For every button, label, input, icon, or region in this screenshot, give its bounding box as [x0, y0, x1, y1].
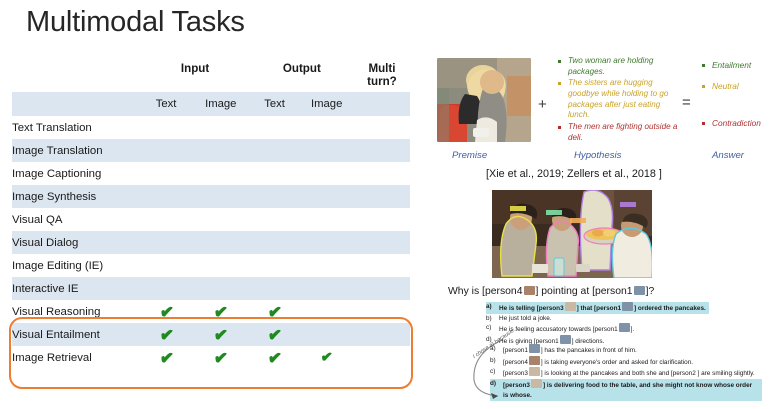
- person1-token-icon: [622, 302, 633, 311]
- cell-input-text: [140, 277, 191, 300]
- cell-multiturn: [354, 277, 410, 300]
- cell-input-text: [140, 254, 191, 277]
- task-name-cell: Visual Dialog: [12, 231, 140, 254]
- cell-input-image: [192, 139, 250, 162]
- cell-output-image: [299, 116, 354, 139]
- vcr-question-suffix: ]?: [646, 286, 655, 297]
- caption-answer: Answer: [712, 150, 744, 161]
- plus-icon: +: [538, 96, 547, 113]
- vcr-rationale-option[interactable]: c)[person3] is looking at the pancakes a…: [490, 367, 762, 379]
- hypothesis-item: The sisters are hugging goodbye while ho…: [556, 78, 678, 121]
- vcr-scene-photo: [492, 190, 652, 278]
- cell-input-text: [140, 185, 191, 208]
- check-icon: ✔: [267, 325, 282, 345]
- cell-input-image: ✔: [192, 346, 250, 369]
- sub-header-multiturn: [354, 92, 410, 116]
- person1-token-icon: [634, 286, 645, 295]
- cell-input-text: ✔: [140, 300, 191, 323]
- vcr-rationale-option[interactable]: d)[person3] is delivering food to the ta…: [490, 379, 762, 400]
- check-icon: ✔: [158, 302, 173, 322]
- check-icon: ✔: [158, 348, 173, 368]
- cell-input-text: [140, 116, 191, 139]
- sub-header-output-text: Text: [250, 92, 300, 116]
- page-title: Multimodal Tasks: [26, 6, 245, 39]
- cell-input-text: [140, 139, 191, 162]
- cell-output-image: [299, 185, 354, 208]
- task-name-cell: Image Retrieval: [12, 346, 140, 369]
- task-name-cell: Image Editing (IE): [12, 254, 140, 277]
- table-row: Visual Reasoning✔✔✔: [12, 300, 410, 323]
- group-header-input: Input: [140, 62, 249, 92]
- answer-list: Entailment Neutral Contradiction: [700, 58, 784, 128]
- cell-output-image: [299, 323, 354, 346]
- person1-token-icon: [529, 344, 540, 353]
- option-text-pre: He just told a joke.: [499, 315, 552, 322]
- cell-output-text: ✔: [250, 323, 300, 346]
- cell-output-image: [299, 139, 354, 162]
- option-key: a): [486, 302, 492, 312]
- cell-input-text: ✔: [140, 323, 191, 346]
- cell-output-text: [250, 185, 300, 208]
- option-key: c): [486, 323, 491, 333]
- answer-item: Neutral: [700, 81, 784, 91]
- cell-multiturn: [354, 162, 410, 185]
- cell-input-image: [192, 185, 250, 208]
- person1-token-icon: [560, 335, 571, 344]
- person3-token-icon: [529, 367, 540, 376]
- cell-input-text: [140, 208, 191, 231]
- multimodal-tasks-table: Input Output Multi turn? Text Image Text…: [12, 62, 410, 369]
- visual-entailment-figure: + Two woman are holding packages. The si…: [434, 58, 784, 166]
- table-row: Visual Entailment✔✔✔: [12, 323, 410, 346]
- hypothesis-item: The men are fighting outside a deli.: [556, 122, 678, 143]
- task-name-cell: Visual Reasoning: [12, 300, 140, 323]
- check-icon: ✔: [320, 349, 333, 366]
- equals-icon: =: [682, 94, 691, 111]
- cell-output-image: [299, 254, 354, 277]
- check-icon: ✔: [213, 348, 228, 368]
- option-text-post: ] is looking at the pancakes and both sh…: [541, 370, 755, 377]
- check-icon: ✔: [158, 325, 173, 345]
- table-row: Image Retrieval✔✔✔✔: [12, 346, 410, 369]
- cell-input-image: ✔: [192, 300, 250, 323]
- cell-input-image: [192, 231, 250, 254]
- cell-multiturn: [354, 185, 410, 208]
- sub-header-output-image: Image: [299, 92, 354, 116]
- cell-multiturn: [354, 300, 410, 323]
- cell-multiturn: [354, 116, 410, 139]
- cell-multiturn: [354, 346, 410, 369]
- cell-multiturn: [354, 231, 410, 254]
- person1-token-icon: [619, 323, 630, 332]
- vcr-answer-option[interactable]: c)He is feeling accusatory towards [pers…: [486, 323, 756, 335]
- cell-output-image: [299, 208, 354, 231]
- table-sub-header-row: Text Image Text Image: [12, 92, 410, 116]
- cell-input-image: [192, 116, 250, 139]
- table-row: Visual Dialog: [12, 231, 410, 254]
- person4-token-icon: [524, 286, 535, 295]
- cell-output-text: [250, 208, 300, 231]
- cell-output-image: [299, 277, 354, 300]
- cell-output-text: [250, 277, 300, 300]
- vcr-rationale-option[interactable]: a)[person1] has the pancakes in front of…: [490, 344, 762, 356]
- table-row: Image Translation: [12, 139, 410, 162]
- option-text-post: ] is taking everyone's order and asked f…: [541, 359, 693, 366]
- table-row: Text Translation: [12, 116, 410, 139]
- sub-header-input-image: Image: [192, 92, 250, 116]
- vcr-rationale-option[interactable]: b)[person4] is taking everyone's order a…: [490, 356, 762, 368]
- task-name-cell: Visual Entailment: [12, 323, 140, 346]
- check-icon: ✔: [267, 302, 282, 322]
- vcr-answer-options: a)He is telling [person3] that [person1]…: [486, 302, 756, 347]
- vcr-rationale-options: a)[person1] has the pancakes in front of…: [490, 344, 762, 401]
- cell-output-image: [299, 231, 354, 254]
- table-row: Image Captioning: [12, 162, 410, 185]
- cell-input-text: [140, 231, 191, 254]
- cell-output-text: [250, 231, 300, 254]
- answer-item: Entailment: [700, 60, 784, 70]
- option-text-mid: ] that [person1: [577, 305, 621, 312]
- cell-input-text: ✔: [140, 346, 191, 369]
- check-icon: ✔: [213, 325, 228, 345]
- table-row: Visual QA: [12, 208, 410, 231]
- task-name-cell: Interactive IE: [12, 277, 140, 300]
- task-name-cell: Image Synthesis: [12, 185, 140, 208]
- group-header-output: Output: [250, 62, 354, 92]
- option-text-post: ] ordered the pancakes.: [634, 305, 706, 312]
- sub-header-input-text: Text: [140, 92, 191, 116]
- cell-output-text: [250, 116, 300, 139]
- cell-multiturn: [354, 323, 410, 346]
- right-figure-panel: + Two woman are holding packages. The si…: [428, 0, 784, 409]
- cell-input-image: ✔: [192, 323, 250, 346]
- option-text-post: ].: [631, 326, 635, 333]
- check-icon: ✔: [213, 302, 228, 322]
- cell-multiturn: [354, 254, 410, 277]
- vcr-question-middle: ] pointing at [person1: [536, 286, 633, 297]
- vcr-question: Why is [person4] pointing at [person1]?: [448, 286, 654, 297]
- citation-text: [Xie et al., 2019; Zellers et al., 2018 …: [486, 168, 662, 180]
- answer-item: Contradiction: [700, 118, 784, 128]
- cell-output-text: [250, 254, 300, 277]
- cell-output-text: ✔: [250, 346, 300, 369]
- cell-input-image: [192, 162, 250, 185]
- cell-input-image: [192, 208, 250, 231]
- cell-output-text: [250, 162, 300, 185]
- table-group-header-row: Input Output Multi turn?: [12, 62, 410, 92]
- table-row: Interactive IE: [12, 277, 410, 300]
- group-header-multiturn: Multi turn?: [354, 62, 410, 92]
- option-text-pre: He is telling [person3: [499, 305, 564, 312]
- table-row: Image Editing (IE): [12, 254, 410, 277]
- caption-premise: Premise: [452, 150, 487, 161]
- cell-input-image: [192, 277, 250, 300]
- cell-output-text: ✔: [250, 300, 300, 323]
- hypothesis-list: Two woman are holding packages. The sist…: [556, 56, 678, 144]
- table-row: Image Synthesis: [12, 185, 410, 208]
- hypothesis-item: Two woman are holding packages.: [556, 56, 678, 77]
- sub-header-blank: [12, 92, 140, 116]
- vcr-answer-option[interactable]: b)He just told a joke.: [486, 314, 756, 324]
- cell-output-image: [299, 300, 354, 323]
- cell-output-text: [250, 139, 300, 162]
- option-key: b): [486, 314, 492, 324]
- task-name-cell: Image Captioning: [12, 162, 140, 185]
- task-name-cell: Image Translation: [12, 139, 140, 162]
- cell-multiturn: [354, 139, 410, 162]
- cell-output-image: [299, 162, 354, 185]
- cell-input-image: [192, 254, 250, 277]
- person3-token-icon: [531, 379, 542, 388]
- caption-hypothesis: Hypothesis: [574, 150, 621, 161]
- premise-photo: [437, 58, 531, 142]
- group-header-blank: [12, 62, 140, 92]
- task-name-cell: Visual QA: [12, 208, 140, 231]
- option-text-post: ] has the pancakes in front of him.: [541, 347, 637, 354]
- person3-token-icon: [565, 302, 576, 311]
- cell-output-image: ✔: [299, 346, 354, 369]
- check-icon: ✔: [267, 348, 282, 368]
- vcr-answer-option[interactable]: a)He is telling [person3] that [person1]…: [486, 302, 709, 314]
- person4-token-icon: [529, 356, 540, 365]
- vcr-question-prefix: Why is [person4: [448, 286, 523, 297]
- cell-multiturn: [354, 208, 410, 231]
- cell-input-text: [140, 162, 191, 185]
- task-name-cell: Text Translation: [12, 116, 140, 139]
